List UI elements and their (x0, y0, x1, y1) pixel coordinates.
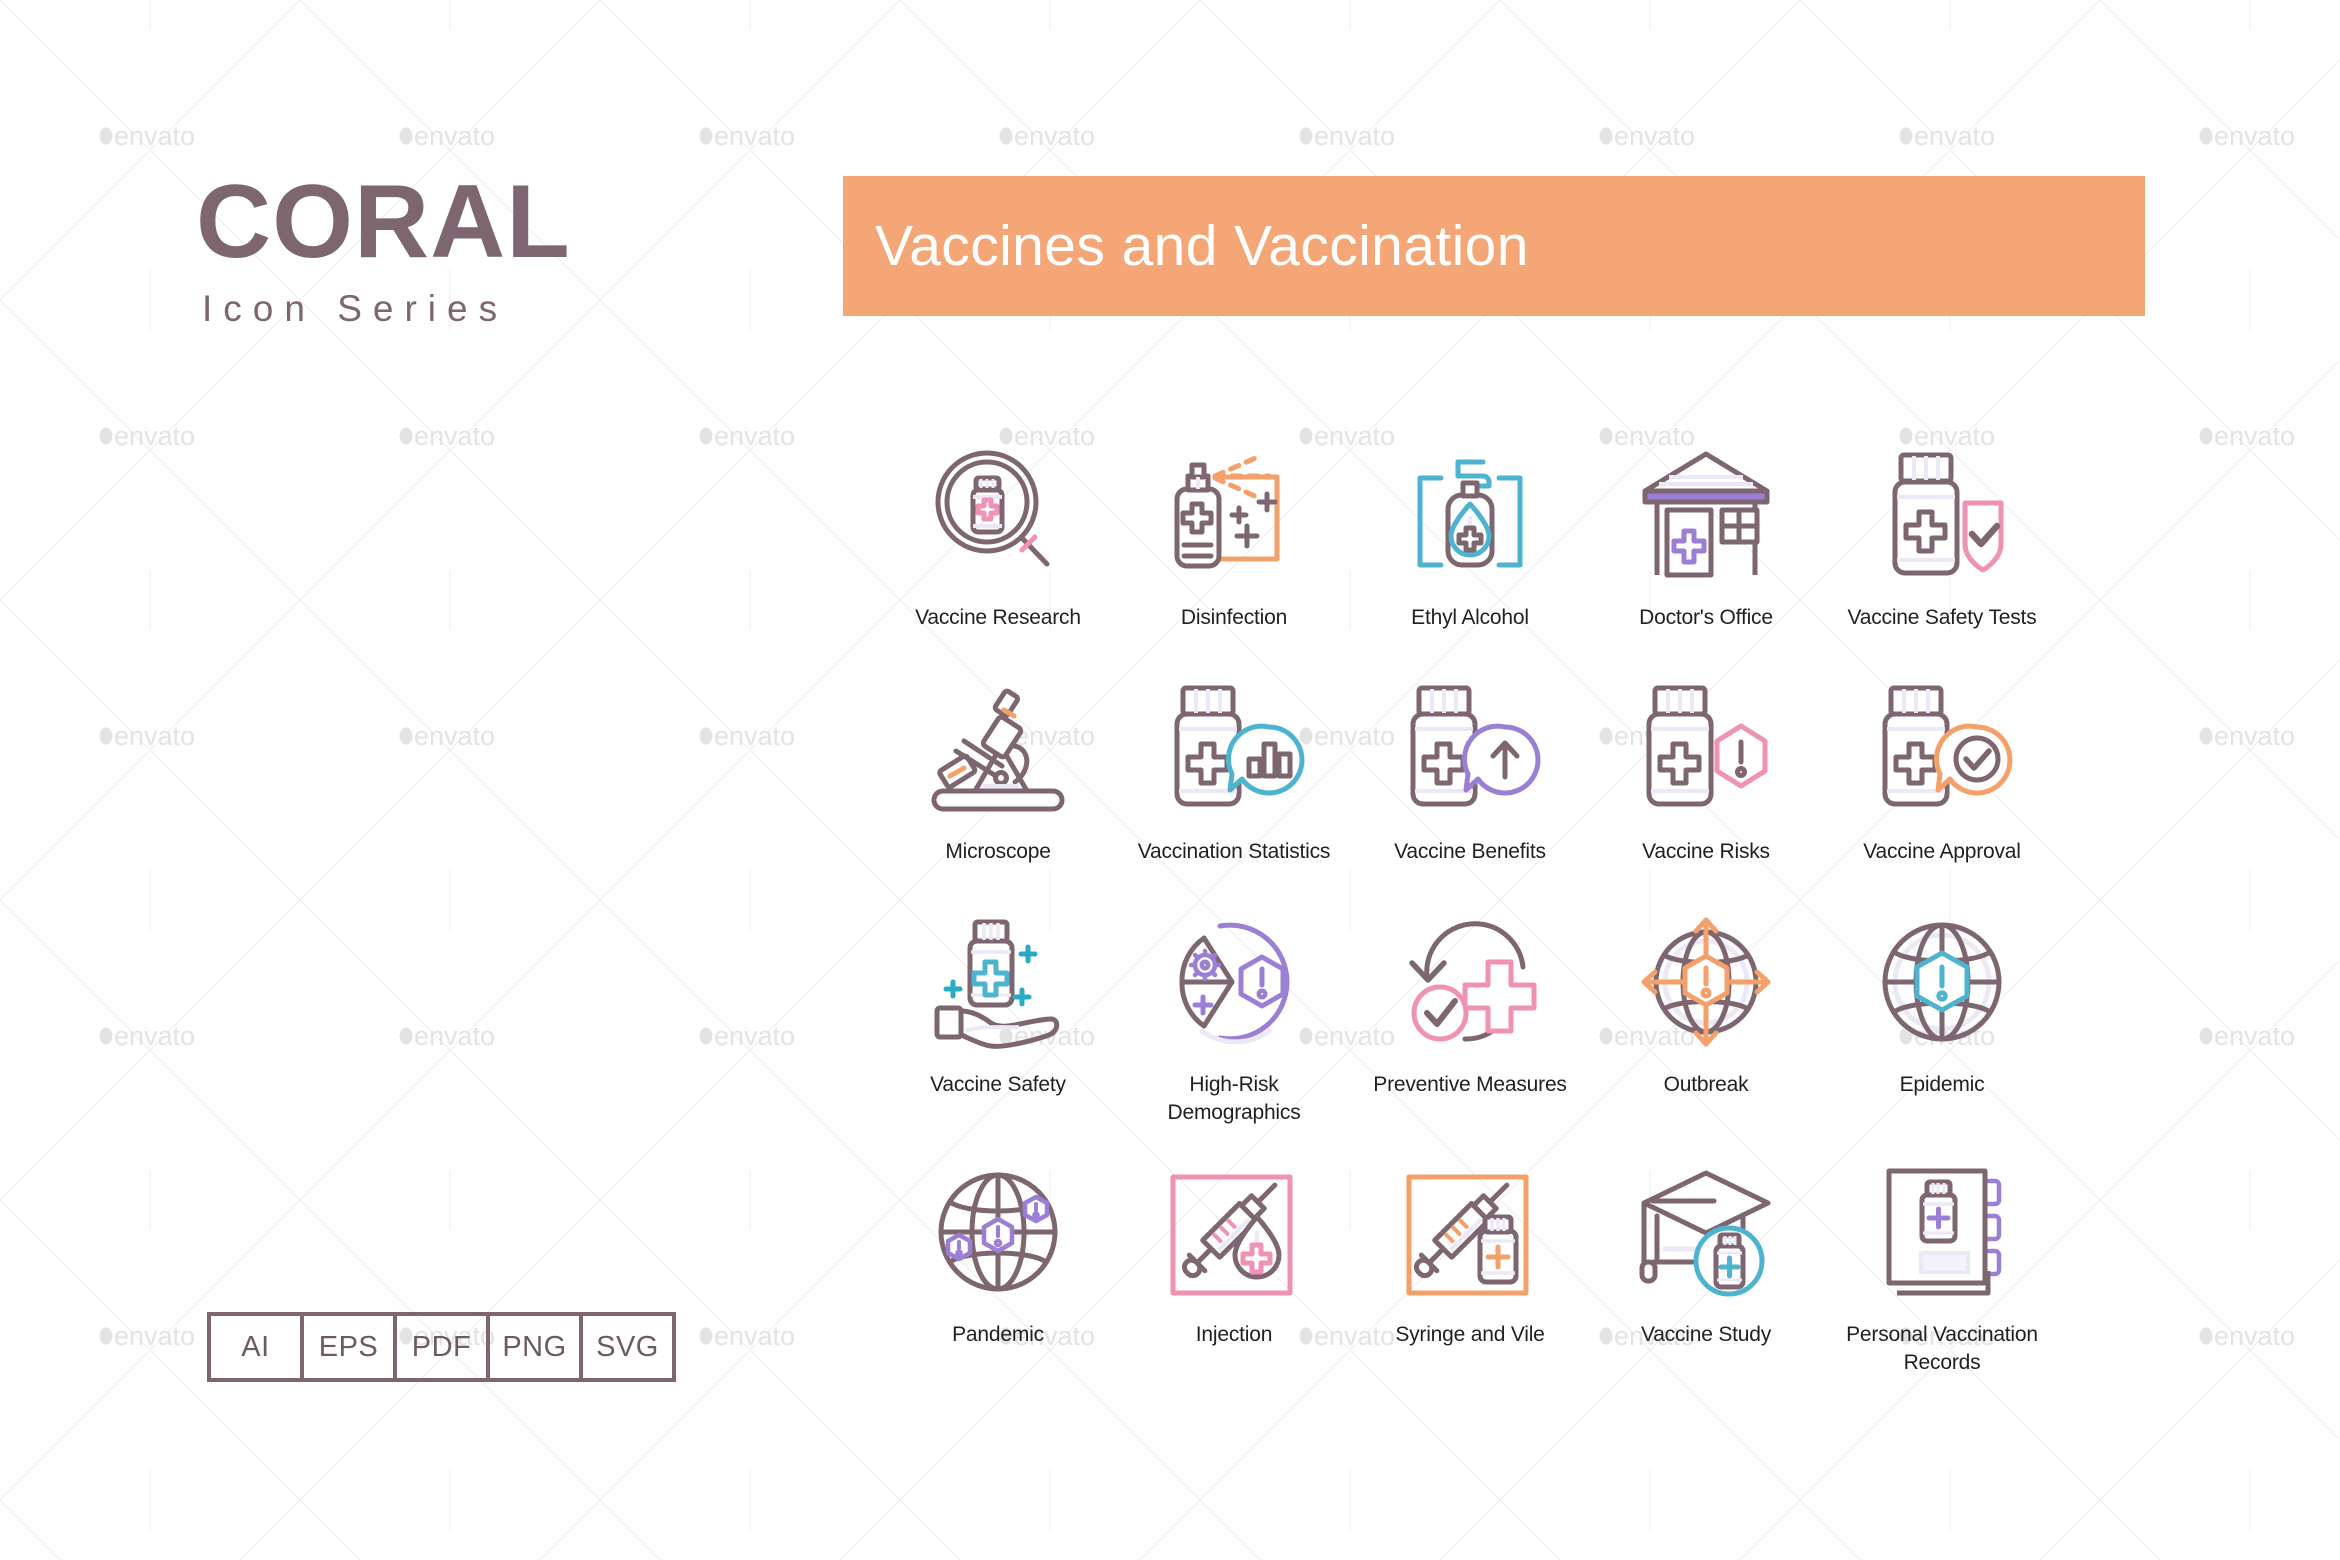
icon-cell-vaccine-risks[interactable]: Vaccine Risks (1588, 674, 1824, 866)
icon-cell-syringe-and-vile[interactable]: Syringe and Vile (1352, 1157, 1588, 1376)
vaccine-research-icon (923, 440, 1073, 590)
icon-cell-ethyl-alcohol[interactable]: Ethyl Alcohol (1352, 440, 1588, 632)
vaccine-safety-tests-icon (1867, 440, 2017, 590)
icon-row: Vaccine Safety (880, 907, 2080, 1126)
format-tag-list: AI EPS PDF PNG SVG (207, 1312, 676, 1382)
icon-cell-vaccine-research[interactable]: Vaccine Research (880, 440, 1116, 632)
format-tag-pdf[interactable]: PDF (397, 1316, 490, 1378)
icon-cell-vaccination-statistics[interactable]: Vaccination Statistics (1116, 674, 1352, 866)
vaccine-risks-icon (1631, 674, 1781, 824)
icon-cell-vaccine-benefits[interactable]: Vaccine Benefits (1352, 674, 1588, 866)
brand-title: CORAL (196, 170, 571, 274)
icon-cell-preventive-measures[interactable]: Preventive Measures (1352, 907, 1588, 1126)
icon-label: Doctor's Office (1639, 604, 1773, 632)
icon-label: Preventive Measures (1373, 1071, 1566, 1099)
icon-row: Vaccine Research (880, 440, 2080, 632)
icon-cell-vaccine-approval[interactable]: Vaccine Approval (1824, 674, 2060, 866)
outbreak-icon (1631, 907, 1781, 1057)
personal-vaccination-records-icon (1867, 1157, 2017, 1307)
icon-label: Microscope (945, 838, 1050, 866)
doctors-office-icon (1631, 440, 1781, 590)
icon-label: Vaccine Safety Tests (1848, 604, 2037, 632)
icon-cell-injection[interactable]: Injection (1116, 1157, 1352, 1376)
icon-cell-outbreak[interactable]: Outbreak (1588, 907, 1824, 1126)
icon-cell-epidemic[interactable]: Epidemic (1824, 907, 2060, 1126)
vaccine-safety-icon (923, 907, 1073, 1057)
brand-subtitle: Icon Series (202, 288, 571, 330)
icon-label: Injection (1196, 1321, 1272, 1349)
icon-cell-vaccine-safety[interactable]: Vaccine Safety (880, 907, 1116, 1126)
format-tag-eps[interactable]: EPS (304, 1316, 397, 1378)
format-tag-svg[interactable]: SVG (583, 1316, 672, 1378)
icon-cell-pandemic[interactable]: Pandemic (880, 1157, 1116, 1376)
icon-label: Outbreak (1664, 1071, 1749, 1099)
format-tag-ai[interactable]: AI (211, 1316, 304, 1378)
page-title: Vaccines and Vaccination (875, 213, 1529, 279)
icon-label: Vaccine Approval (1863, 838, 2021, 866)
icon-label: Vaccination Statistics (1138, 838, 1330, 866)
icon-cell-vaccine-study[interactable]: Vaccine Study (1588, 1157, 1824, 1376)
icon-cell-doctors-office[interactable]: Doctor's Office (1588, 440, 1824, 632)
icon-cell-microscope[interactable]: Microscope (880, 674, 1116, 866)
pandemic-icon (923, 1157, 1073, 1307)
icon-row: Microscope (880, 674, 2080, 866)
icon-label: Vaccine Risks (1642, 838, 1770, 866)
brand-block: CORAL Icon Series (196, 170, 571, 330)
microscope-icon (923, 674, 1073, 824)
ethyl-alcohol-icon (1395, 440, 1545, 590)
icon-label: Vaccine Benefits (1394, 838, 1546, 866)
icon-label: Vaccine Research (915, 604, 1081, 632)
vaccine-benefits-icon (1395, 674, 1545, 824)
icon-label: High-Risk Demographics (1124, 1071, 1344, 1126)
icon-cell-disinfection[interactable]: Disinfection (1116, 440, 1352, 632)
icon-label: Epidemic (1900, 1071, 1985, 1099)
injection-icon (1159, 1157, 1309, 1307)
vaccination-statistics-icon (1159, 674, 1309, 824)
icon-row: Pandemic (880, 1157, 2080, 1376)
icon-cell-personal-vaccination-records[interactable]: Personal Vaccination Records (1824, 1157, 2060, 1376)
left-panel: CORAL Icon Series AI EPS PDF PNG SVG (0, 0, 840, 1560)
icon-grid: Vaccine Research (880, 440, 2080, 1376)
epidemic-icon (1867, 907, 2017, 1057)
icon-label: Vaccine Study (1641, 1321, 1771, 1349)
icon-cell-high-risk-demographics[interactable]: High-Risk Demographics (1116, 907, 1352, 1126)
disinfection-icon (1159, 440, 1309, 590)
syringe-and-vile-icon (1395, 1157, 1545, 1307)
icon-label: Disinfection (1181, 604, 1287, 632)
high-risk-demographics-icon (1159, 907, 1309, 1057)
icon-label: Syringe and Vile (1395, 1321, 1544, 1349)
vaccine-study-icon (1631, 1157, 1781, 1307)
icon-label: Pandemic (952, 1321, 1044, 1349)
preventive-measures-icon (1395, 907, 1545, 1057)
page-header-banner: Vaccines and Vaccination (843, 176, 2145, 316)
icon-label: Personal Vaccination Records (1832, 1321, 2052, 1376)
format-tag-png[interactable]: PNG (490, 1316, 583, 1378)
icon-label: Ethyl Alcohol (1411, 604, 1529, 632)
vaccine-approval-icon (1867, 674, 2017, 824)
icon-cell-vaccine-safety-tests[interactable]: Vaccine Safety Tests (1824, 440, 2060, 632)
icon-label: Vaccine Safety (930, 1071, 1066, 1099)
